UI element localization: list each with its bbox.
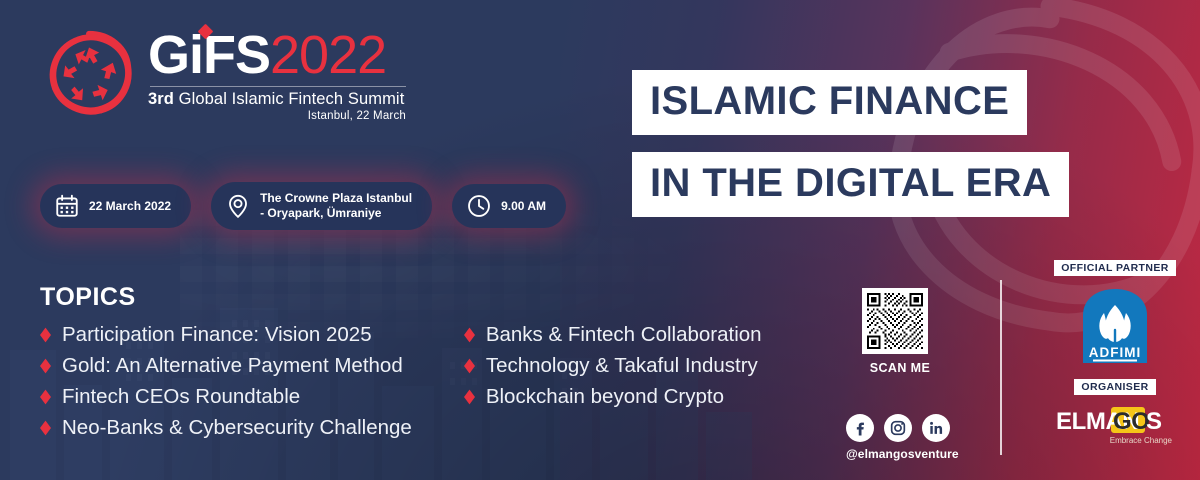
- logo-location-line: Istanbul, 22 March: [148, 110, 406, 122]
- qr-block: SCAN ME: [862, 288, 938, 375]
- linkedin-icon[interactable]: [922, 414, 950, 442]
- diamond-bullet-icon: [40, 358, 51, 374]
- topic-label: Banks & Fintech Collaboration: [486, 323, 762, 347]
- topic-label: Technology & Takaful Industry: [486, 354, 758, 378]
- location-pill-label: The Crowne Plaza Istanbul - Oryapark, Üm…: [260, 191, 412, 221]
- elmangos-tagline: Embrace Change: [1110, 436, 1173, 445]
- logo-subtitle-prefix: 3rd: [148, 90, 174, 108]
- partner-divider: [1000, 280, 1002, 455]
- gifs-interlocked-ring-logo-icon: [38, 22, 140, 124]
- diamond-bullet-icon: [464, 358, 475, 374]
- wordmark-gifs: GiFS: [148, 28, 270, 82]
- headline-line-2: IN THE DIGITAL ERA: [632, 152, 1069, 217]
- instagram-icon[interactable]: [884, 414, 912, 442]
- qr-label: SCAN ME: [862, 361, 938, 375]
- topics-heading: TOPICS: [40, 283, 136, 312]
- logo-subtitle-text: Global Islamic Fintech Summit: [179, 90, 405, 108]
- adfimi-logo-icon: ADFIMI: [1079, 285, 1151, 367]
- diamond-bullet-icon: [40, 420, 51, 436]
- diamond-bullet-icon: [464, 327, 475, 343]
- logo-text-group: GiFS 2022 3rd Global Islamic Fintech Sum…: [148, 22, 406, 122]
- diamond-bullet-icon: [40, 327, 51, 343]
- topic-item: Technology & Takaful Industry: [464, 351, 762, 381]
- location-pill: The Crowne Plaza Istanbul - Oryapark, Üm…: [211, 182, 432, 230]
- topic-label: Blockchain beyond Crypto: [486, 385, 724, 409]
- time-pill-label: 9.00 AM: [501, 199, 546, 214]
- location-pin-icon: [225, 193, 251, 219]
- diamond-bullet-icon: [464, 389, 475, 405]
- partners-block: OFFICIAL PARTNER ADFIMI ORGANISER ELMAN …: [1040, 258, 1190, 449]
- social-block: @elmangosventure: [846, 414, 959, 461]
- qr-code-icon: [867, 293, 923, 349]
- topic-label: Gold: An Alternative Payment Method: [62, 354, 403, 378]
- elmangos-part2: S: [1146, 408, 1162, 435]
- event-logo-block: GiFS 2022 3rd Global Islamic Fintech Sum…: [38, 22, 406, 124]
- topic-label: Neo-Banks & Cybersecurity Challenge: [62, 416, 412, 440]
- info-pills: 22 March 2022 The Crowne Plaza Istanbul …: [40, 182, 566, 230]
- wordmark-year: 2022: [270, 28, 386, 82]
- elmangos-logo: ELMAN GO S Embrace Change: [1040, 405, 1190, 449]
- topic-item: Banks & Fintech Collaboration: [464, 320, 762, 350]
- topic-item: Participation Finance: Vision 2025: [40, 320, 412, 350]
- logo-divider-rule: [150, 86, 406, 87]
- topics-columns: Participation Finance: Vision 2025 Gold:…: [40, 320, 762, 443]
- topic-label: Fintech CEOs Roundtable: [62, 385, 300, 409]
- headline-block: ISLAMIC FINANCE IN THE DIGITAL ERA: [632, 70, 1200, 217]
- event-banner: GiFS 2022 3rd Global Islamic Fintech Sum…: [0, 0, 1200, 480]
- organiser-label: ORGANISER: [1074, 379, 1155, 395]
- elmangos-highlight: GO: [1113, 408, 1150, 435]
- headline-line-1: ISLAMIC FINANCE: [632, 70, 1027, 135]
- calendar-icon: [54, 193, 80, 219]
- topics-column-left: Participation Finance: Vision 2025 Gold:…: [40, 320, 412, 443]
- qr-card[interactable]: [862, 288, 928, 354]
- date-pill: 22 March 2022: [40, 184, 191, 228]
- social-icon-row: [846, 414, 959, 442]
- topics-column-right: Banks & Fintech Collaboration Technology…: [464, 320, 762, 443]
- svg-text:ADFIMI: ADFIMI: [1089, 345, 1142, 360]
- wordmark: GiFS 2022: [148, 28, 406, 82]
- organiser-label-wrap: ORGANISER: [1040, 377, 1190, 395]
- topic-item: Blockchain beyond Crypto: [464, 382, 762, 412]
- time-pill: 9.00 AM: [452, 184, 566, 228]
- social-handle: @elmangosventure: [846, 447, 959, 461]
- topic-item: Neo-Banks & Cybersecurity Challenge: [40, 413, 412, 443]
- date-pill-label: 22 March 2022: [89, 199, 171, 214]
- adfimi-logo: ADFIMI: [1040, 285, 1190, 367]
- logo-subtitle: 3rd Global Islamic Fintech Summit: [148, 90, 406, 109]
- topic-item: Fintech CEOs Roundtable: [40, 382, 412, 412]
- topic-item: Gold: An Alternative Payment Method: [40, 351, 412, 381]
- facebook-icon[interactable]: [846, 414, 874, 442]
- official-partner-label: OFFICIAL PARTNER: [1054, 260, 1176, 276]
- topic-label: Participation Finance: Vision 2025: [62, 323, 372, 347]
- elmangos-logo-icon: ELMAN GO S Embrace Change: [1054, 405, 1176, 449]
- clock-icon: [466, 193, 492, 219]
- diamond-bullet-icon: [40, 389, 51, 405]
